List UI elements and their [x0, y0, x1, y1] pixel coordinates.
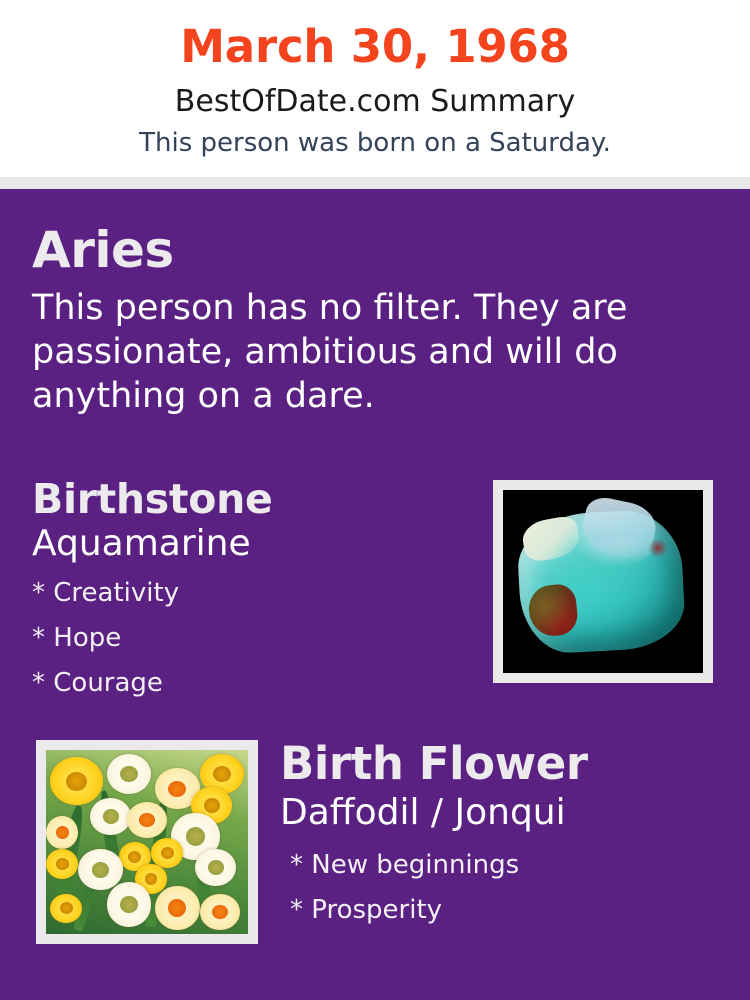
daffodil-bloom-icon: [46, 849, 78, 878]
site-name-subtitle: BestOfDate.com Summary: [0, 84, 750, 120]
list-item: * Creativity: [32, 571, 472, 616]
zodiac-section: Aries This person has no filter. They ar…: [32, 222, 672, 418]
birth-flower-section: Birth Flower Daffodil / Jonqui * New beg…: [280, 737, 740, 933]
daffodil-bloom-icon: [151, 838, 183, 867]
date-summary-card: March 30, 1968 BestOfDate.com Summary Th…: [0, 0, 750, 1000]
daffodil-bloom-icon: [195, 849, 235, 886]
daffodil-bloom-icon: [78, 849, 122, 889]
daffodil-bloom-icon: [50, 757, 103, 805]
daffodil-bloom-icon: [107, 882, 151, 926]
weekday-statement: This person was born on a Saturday.: [0, 127, 750, 159]
zodiac-description: This person has no filter. They are pass…: [32, 286, 652, 418]
birthstone-name: Aquamarine: [32, 523, 472, 565]
birth-flower-heading: Birth Flower: [280, 737, 740, 791]
birthstone-heading: Birthstone: [32, 475, 472, 523]
header-divider: [0, 177, 750, 189]
daffodil-bloom-icon: [127, 802, 167, 839]
birthstone-trait-list: * Creativity * Hope * Courage: [32, 571, 472, 706]
daffodil-bloom-icon: [200, 894, 240, 931]
daffodil-bloom-icon: [155, 886, 199, 930]
birth-flower-trait-list: * New beginnings * Prosperity: [280, 843, 740, 933]
crystal-spot: [649, 538, 667, 558]
birth-flower-image: [46, 750, 248, 934]
zodiac-sign-title: Aries: [32, 222, 672, 278]
birthstone-section: Birthstone Aquamarine * Creativity * Hop…: [32, 475, 472, 706]
card-header: March 30, 1968 BestOfDate.com Summary Th…: [0, 0, 750, 177]
page-title-date: March 30, 1968: [0, 21, 750, 73]
list-item: * Courage: [32, 661, 472, 706]
birth-flower-image-frame: [36, 740, 258, 944]
birthstone-image: [503, 490, 703, 673]
birthstone-image-frame: [493, 480, 713, 683]
daffodil-bloom-icon: [50, 894, 82, 923]
daffodil-bloom-icon: [107, 754, 151, 794]
birth-flower-name: Daffodil / Jonqui: [280, 791, 740, 835]
daffodil-bloom-icon: [90, 798, 130, 835]
list-item: * Prosperity: [280, 888, 740, 933]
list-item: * Hope: [32, 616, 472, 661]
list-item: * New beginnings: [280, 843, 740, 888]
